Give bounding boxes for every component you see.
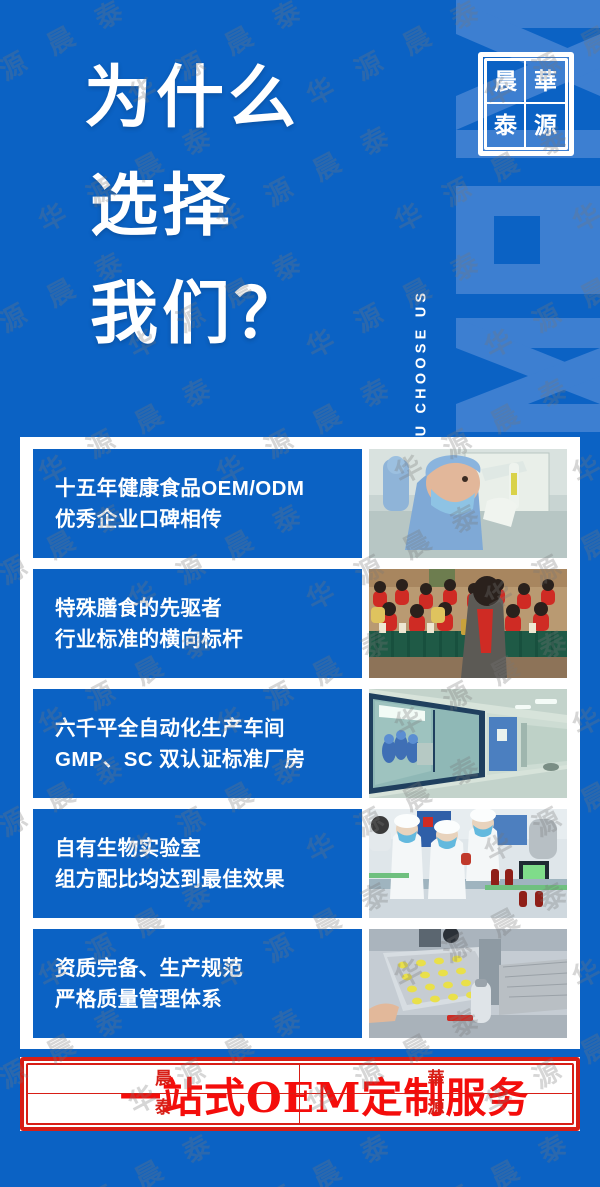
production-line-staff-photo: [369, 809, 567, 918]
feature-3-line-1: 六千平全自动化生产车间: [55, 713, 340, 744]
seal-red-char-1: 晨: [28, 1065, 300, 1094]
features-panel: 十五年健康食品OEM/ODM 优秀企业口碑相传: [20, 437, 580, 1049]
brand-seal-red-icon: 晨 華 泰 源: [36, 1055, 108, 1133]
lab-technician-photo: [369, 449, 567, 558]
hero-section: 为什么 选择 我们？ DID YOU CHOOSE US 晨 華 泰 源: [0, 0, 600, 437]
feature-card-5[interactable]: 资质完备、生产规范 严格质量管理体系: [33, 929, 362, 1038]
feature-card-3[interactable]: 六千平全自动化生产车间 GMP、SC 双认证标准厂房: [33, 689, 362, 798]
page-title: 为什么 选择 我们？: [84, 44, 404, 368]
seal-red-char-2: 華: [300, 1065, 572, 1094]
title-line-2: 选择: [84, 152, 404, 260]
cleanroom-corridor-photo: [369, 689, 567, 798]
feature-1-line-2: 优秀企业口碑相传: [55, 504, 340, 535]
feature-card-1[interactable]: 十五年健康食品OEM/ODM 优秀企业口碑相传: [33, 449, 362, 558]
feature-4-line-1: 自有生物实验室: [55, 833, 340, 864]
title-line-1: 为什么: [84, 44, 404, 152]
conference-hall-photo: [369, 569, 567, 678]
feature-card-2[interactable]: 特殊膳食的先驱者 行业标准的横向标杆: [33, 569, 362, 678]
seal-characters: 晨 華 泰 源: [484, 58, 568, 150]
feature-card-4[interactable]: 自有生物实验室 组方配比均达到最佳效果: [33, 809, 362, 918]
feature-4-line-2: 组方配比均达到最佳效果: [55, 864, 340, 895]
feature-5-line-2: 严格质量管理体系: [55, 984, 340, 1015]
feature-3-line-2: GMP、SC 双认证标准厂房: [55, 744, 340, 775]
list-item: 自有生物实验室 组方配比均达到最佳效果: [33, 809, 567, 918]
bottom-cta-banner[interactable]: 晨 華 泰 源 一站式OEM定制服务: [20, 1057, 580, 1131]
brand-seal-icon: 晨 華 泰 源: [478, 52, 574, 156]
list-item: 十五年健康食品OEM/ODM 优秀企业口碑相传: [33, 449, 567, 558]
title-line-3: 我们？: [84, 260, 404, 368]
blister-packing-machine-photo: [369, 929, 567, 1038]
seal-char-1: 晨: [487, 61, 526, 104]
seal-char-2: 華: [526, 61, 565, 104]
feature-2-line-1: 特殊膳食的先驱者: [55, 593, 340, 624]
seal-char-4: 源: [526, 104, 565, 147]
seal-red-characters: 晨 華 泰 源: [26, 1063, 574, 1125]
feature-5-line-1: 资质完备、生产规范: [55, 953, 340, 984]
list-item: 特殊膳食的先驱者 行业标准的横向标杆: [33, 569, 567, 678]
list-item: 六千平全自动化生产车间 GMP、SC 双认证标准厂房: [33, 689, 567, 798]
feature-2-line-2: 行业标准的横向标杆: [55, 624, 340, 655]
list-item: 资质完备、生产规范 严格质量管理体系: [33, 929, 567, 1038]
seal-red-char-3: 泰: [28, 1094, 300, 1123]
seal-char-3: 泰: [487, 104, 526, 147]
feature-1-line-1: 十五年健康食品OEM/ODM: [55, 473, 340, 504]
features-list: 十五年健康食品OEM/ODM 优秀企业口碑相传: [33, 449, 567, 1038]
poster-root: 为什么 选择 我们？ DID YOU CHOOSE US 晨 華 泰 源 十五年…: [0, 0, 600, 1187]
vertical-english-tagline: DID YOU CHOOSE US: [404, 18, 438, 408]
seal-red-char-4: 源: [300, 1094, 572, 1123]
